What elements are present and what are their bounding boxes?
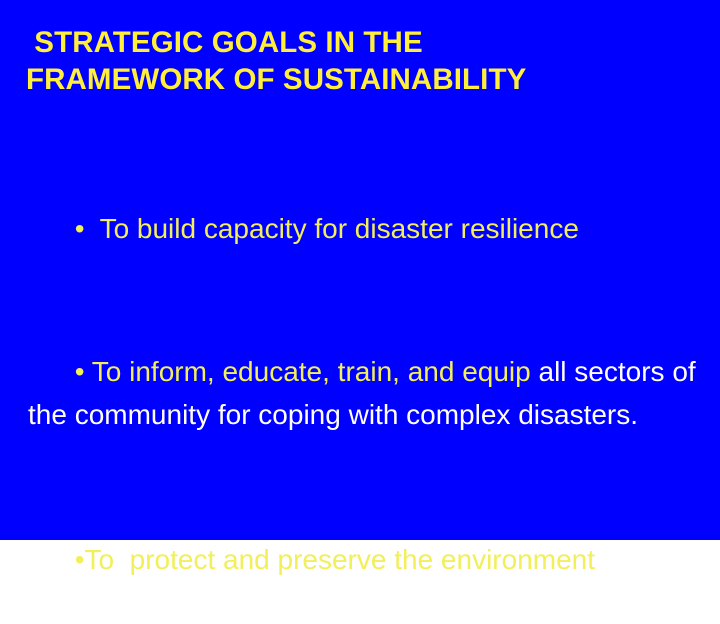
bullet-item-2: • To inform, educate, train, and equip a… bbox=[28, 307, 704, 479]
bullet-text-3: To protect and preserve the environment bbox=[85, 544, 596, 575]
bullet-marker-icon: • bbox=[75, 356, 85, 387]
bullet-marker-gap-2 bbox=[85, 356, 92, 387]
bullet-text-2-yellow: To inform, educate, train, and equip bbox=[92, 356, 539, 387]
slide-body: • To build capacity for disaster resilie… bbox=[28, 164, 704, 624]
bullet-item-1: • To build capacity for disaster resilie… bbox=[28, 164, 704, 293]
bullet-marker-gap-1 bbox=[85, 213, 100, 244]
title-line-1: STRATEGIC GOALS IN THE bbox=[26, 24, 694, 61]
bullet-item-3: •To protect and preserve the environment bbox=[28, 495, 704, 624]
title-line-2: FRAMEWORK OF SUSTAINABILITY bbox=[26, 61, 694, 98]
slide-canvas: STRATEGIC GOALS IN THE FRAMEWORK OF SUST… bbox=[0, 0, 720, 540]
bullet-marker-icon: • bbox=[75, 544, 85, 575]
bullet-text-1: To build capacity for disaster resilienc… bbox=[100, 213, 579, 244]
bullet-marker-icon: • bbox=[75, 213, 85, 244]
slide-title: STRATEGIC GOALS IN THE FRAMEWORK OF SUST… bbox=[26, 24, 694, 98]
